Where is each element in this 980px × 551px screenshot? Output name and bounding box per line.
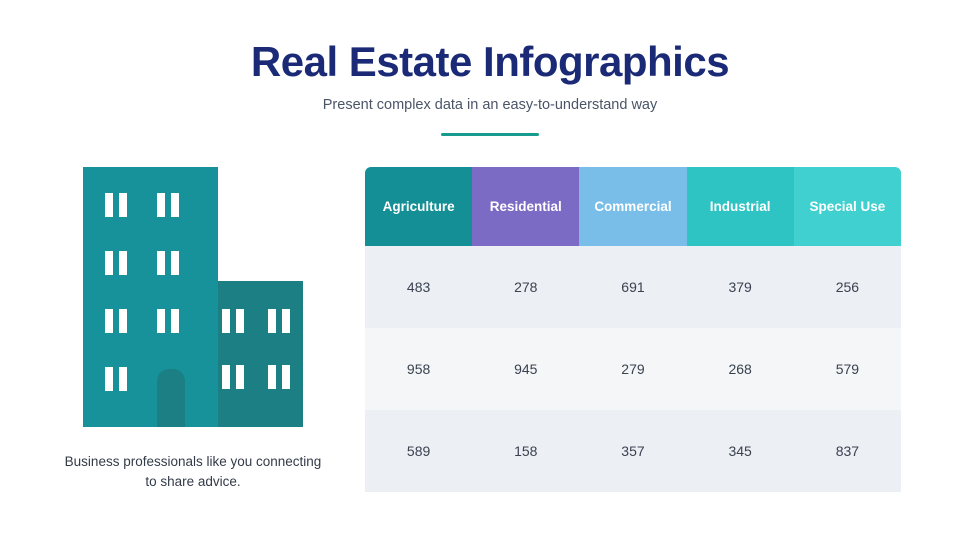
- table-header-row: Agriculture Residential Commercial Indus…: [365, 167, 901, 246]
- data-table-container: Agriculture Residential Commercial Indus…: [365, 167, 901, 499]
- table-cell: 279: [579, 328, 686, 410]
- title-divider: [441, 133, 539, 136]
- column-header-industrial[interactable]: Industrial: [687, 167, 794, 246]
- building-front-block: [83, 167, 218, 427]
- table-cell: 268: [687, 328, 794, 410]
- table-cell: 483: [365, 246, 472, 328]
- illustration-caption: Business professionals like you connecti…: [63, 452, 323, 491]
- window-pair: [157, 193, 179, 217]
- page-subtitle: Present complex data in an easy-to-under…: [0, 97, 980, 113]
- table-cell: 256: [794, 246, 901, 328]
- table-cell: 579: [794, 328, 901, 410]
- column-header-special-use[interactable]: Special Use: [794, 167, 901, 246]
- table-cell: 958: [365, 328, 472, 410]
- window-pair: [157, 309, 179, 333]
- window-pair: [157, 251, 179, 275]
- slide: Real Estate Infographics Present complex…: [0, 0, 980, 551]
- window-pair: [105, 309, 127, 333]
- table-row: 958 945 279 268 579: [365, 328, 901, 410]
- table-cell: 691: [579, 246, 686, 328]
- table-cell: 158: [472, 410, 579, 492]
- building-back-block: [210, 281, 303, 427]
- table-row: 483 278 691 379 256: [365, 246, 901, 328]
- building-illustration: [83, 167, 303, 427]
- window-pair: [222, 365, 244, 389]
- data-table: Agriculture Residential Commercial Indus…: [365, 167, 901, 492]
- column-header-commercial[interactable]: Commercial: [579, 167, 686, 246]
- window-pair: [268, 365, 290, 389]
- column-header-agriculture[interactable]: Agriculture: [365, 167, 472, 246]
- table-cell: 837: [794, 410, 901, 492]
- table-cell: 357: [579, 410, 686, 492]
- table-cell: 945: [472, 328, 579, 410]
- window-pair: [268, 309, 290, 333]
- column-header-residential[interactable]: Residential: [472, 167, 579, 246]
- building-door: [157, 369, 185, 427]
- page-title: Real Estate Infographics: [0, 38, 980, 86]
- window-pair: [105, 251, 127, 275]
- table-cell: 379: [687, 246, 794, 328]
- window-pair: [105, 367, 127, 391]
- table-row: 589 158 357 345 837: [365, 410, 901, 492]
- table-cell: 345: [687, 410, 794, 492]
- window-pair: [105, 193, 127, 217]
- table-cell: 278: [472, 246, 579, 328]
- table-cell: 589: [365, 410, 472, 492]
- window-pair: [222, 309, 244, 333]
